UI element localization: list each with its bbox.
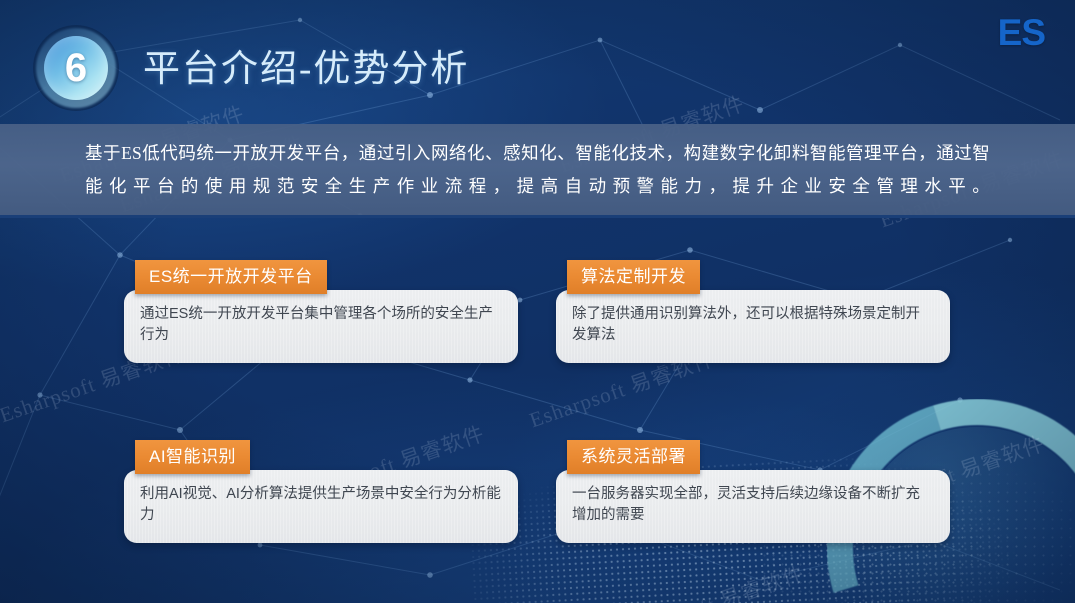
description-banner: 基于ES低代码统一开放开发平台，通过引入网络化、感知化、智能化技术，构建数字化卸…: [0, 124, 1075, 218]
page-title: 平台介绍-优势分析: [143, 38, 469, 92]
feature-card-3-title: AI智能识别: [135, 440, 250, 474]
feature-card-4-text: 一台服务器实现全部，灵活支持后续边缘设备不断扩充增加的需要: [572, 484, 934, 526]
feature-card-1-text: 通过ES统一开放开发平台集中管理各个场所的安全生产行为: [140, 304, 502, 346]
feature-card-2-title: 算法定制开发: [567, 260, 700, 294]
step-number-badge: 6: [33, 25, 119, 111]
feature-card-3-body: 利用AI视觉、AI分析算法提供生产场景中安全行为分析能力: [124, 470, 518, 543]
feature-card-4-body: 一台服务器实现全部，灵活支持后续边缘设备不断扩充增加的需要: [556, 470, 950, 543]
feature-card-2-text: 除了提供通用识别算法外，还可以根据特殊场景定制开发算法: [572, 304, 934, 346]
es-logo: ES: [998, 12, 1045, 54]
feature-card-3[interactable]: AI智能识别 利用AI视觉、AI分析算法提供生产场景中安全行为分析能力: [124, 440, 518, 543]
description-banner-text: 基于ES低代码统一开放开发平台，通过引入网络化、感知化、智能化技术，构建数字化卸…: [85, 137, 990, 203]
feature-card-2[interactable]: 算法定制开发 除了提供通用识别算法外，还可以根据特殊场景定制开发算法: [556, 260, 950, 363]
feature-card-1-title: ES统一开放开发平台: [135, 260, 327, 294]
feature-card-4[interactable]: 系统灵活部署 一台服务器实现全部，灵活支持后续边缘设备不断扩充增加的需要: [556, 440, 950, 543]
feature-card-1[interactable]: ES统一开放开发平台 通过ES统一开放开发平台集中管理各个场所的安全生产行为: [124, 260, 518, 363]
feature-card-4-title: 系统灵活部署: [567, 440, 700, 474]
step-number-text: 6: [65, 48, 87, 88]
feature-card-2-body: 除了提供通用识别算法外，还可以根据特殊场景定制开发算法: [556, 290, 950, 363]
slide-root: Esharpsoft 易睿软件 Esharpsoft 易睿软件 Esharpso…: [0, 0, 1075, 603]
feature-card-1-body: 通过ES统一开放开发平台集中管理各个场所的安全生产行为: [124, 290, 518, 363]
slide-header: 6 平台介绍-优势分析 ES: [0, 0, 1075, 124]
feature-card-3-text: 利用AI视觉、AI分析算法提供生产场景中安全行为分析能力: [140, 484, 502, 526]
